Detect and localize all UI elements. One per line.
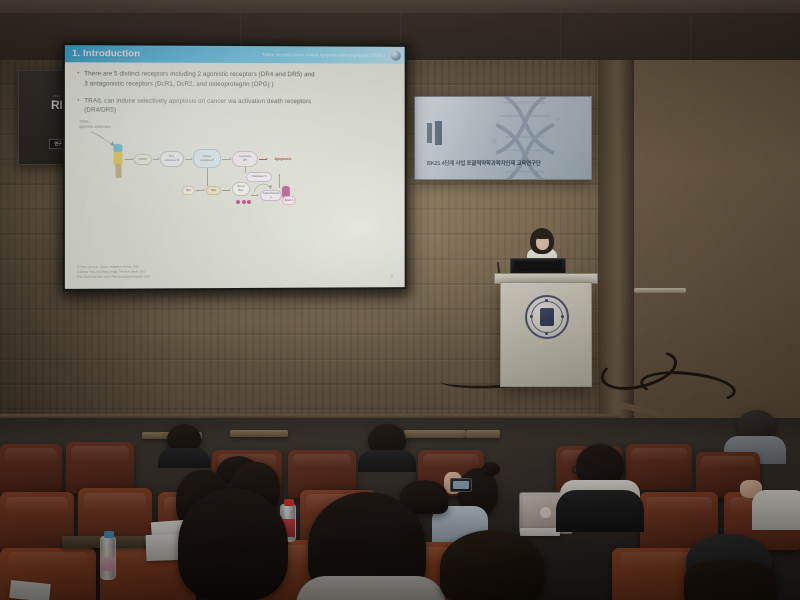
- seat-desk: [230, 430, 288, 437]
- reference-line: 3) W. Daniel Stamilton, et al., Pharmaco…: [77, 275, 150, 280]
- pathway-node-caspase37: Caspase3/7: [232, 151, 258, 167]
- pathway-node-fadd: FADD: [134, 154, 152, 165]
- smartphone-camera: [450, 478, 472, 492]
- bullet-text: TRAIL can induce selectively apoptosis o…: [84, 96, 317, 116]
- handout-papers: [520, 528, 560, 536]
- seat-desk: [466, 430, 500, 438]
- podium: [500, 282, 592, 387]
- lecture-hall-photo: 2024 RIPS 연구 BK21 4단계 사업 포괄적약학과학자인재 교육연구…: [0, 0, 800, 600]
- bullet-marker: ▪: [77, 69, 79, 89]
- presenter-fringe: [534, 232, 551, 239]
- handout-papers: [9, 580, 51, 600]
- pathway-node-apaf1: Apaf-1: [282, 196, 296, 205]
- trail-pathway-diagram: TRAIL,agonistic antibodies FADD Pro-casp…: [75, 118, 395, 229]
- hair-bun: [482, 462, 500, 476]
- audience-shoulders: [296, 576, 446, 600]
- slide-title-bar: 1. Introduction Tumor necrosis factor re…: [65, 45, 405, 64]
- stage-rail: [634, 288, 686, 293]
- audience-shoulders: [752, 490, 800, 530]
- slide-subtitle: Tumor necrosis factor related apoptosis …: [262, 52, 405, 58]
- slide-bullet: ▪ TRAIL can induce selectively apoptosis…: [77, 96, 395, 116]
- audience-head-foreground: [178, 488, 288, 600]
- pathway-node-active-caspase8: Activecaspase 8: [193, 149, 221, 168]
- eyeglasses-icon: [572, 466, 588, 473]
- banner-left-chip-label: 연구: [54, 141, 61, 147]
- audience-head-foreground: [440, 530, 544, 600]
- auditorium-seat: [0, 444, 62, 494]
- audience-shoulders: [358, 450, 416, 472]
- cytochrome-particles-icon: [236, 200, 251, 204]
- slide-references: 1) Tuan, Kuo et al., Cancer metastasis r…: [77, 266, 150, 281]
- audience-head-foreground: [684, 560, 776, 600]
- loop-arrow-icon: [252, 180, 274, 196]
- pathway-node-tbid: tBid: [206, 186, 221, 195]
- projection-screen: 1. Introduction Tumor necrosis factor re…: [63, 43, 407, 291]
- presentation-slide: 1. Introduction Tumor necrosis factor re…: [65, 45, 405, 289]
- university-crest-icon: [525, 295, 569, 339]
- banner-right-bk21: BK21 4단계 사업 포괄적약학과학자인재 교육연구단: [414, 96, 592, 180]
- pathway-node-bcl2-bax: Bcl-2Bax: [232, 182, 250, 196]
- bullet-marker: ▪: [77, 96, 79, 116]
- ceiling: [0, 0, 800, 14]
- pathway-node-apoptosis: Apoptosis: [268, 155, 298, 163]
- water-bottle: [100, 536, 116, 580]
- slide-bullet: ▪ There are 5 distinct receptors includi…: [77, 69, 395, 90]
- slide-body: ▪ There are 5 distinct receptors includi…: [65, 62, 405, 116]
- slide-title: 1. Introduction: [65, 48, 140, 59]
- pathway-node-procaspase8: Pro-caspase 8: [160, 151, 184, 167]
- seat-desk: [404, 430, 466, 438]
- death-receptor-icon: [113, 144, 122, 178]
- slide-page-number: 3: [391, 273, 393, 278]
- audience-shoulders: [158, 448, 210, 468]
- audience-shoulders: [556, 490, 644, 532]
- institution-seal-icon: [390, 49, 402, 61]
- pathway-node-bid: Bid: [182, 186, 195, 195]
- bullet-text: There are 5 distinct receptors including…: [84, 69, 317, 89]
- auditorium-seat: [66, 442, 134, 494]
